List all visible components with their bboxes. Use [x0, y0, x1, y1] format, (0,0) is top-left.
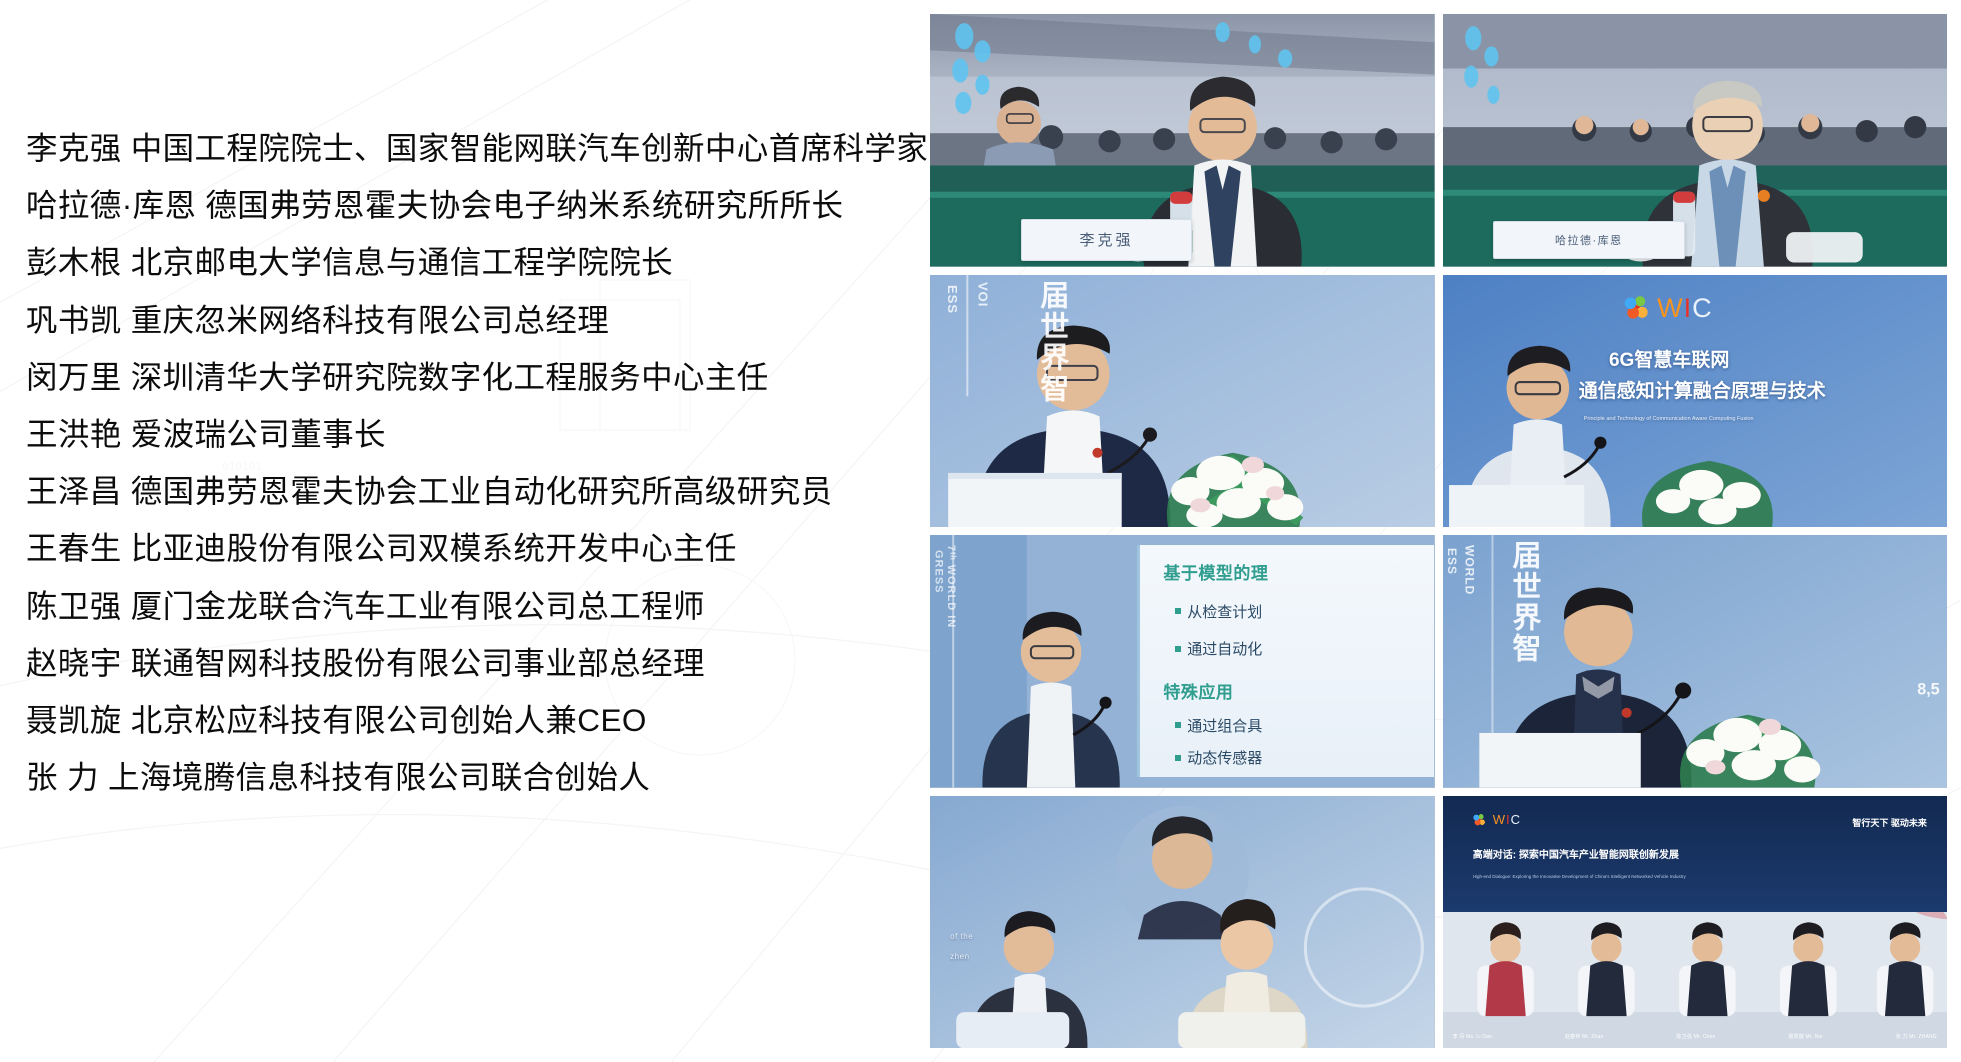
slide-bullet: 动态传感器 [1175, 747, 1262, 768]
photo-scene [930, 275, 1435, 528]
roster-title: 深圳清华大学研究院数字化工程服务中心主任 [131, 359, 769, 395]
photo-stage-panel: WIC 智行天下 驱动未来 高端对话: 探索中国汽车产业智能网联创新发展 Hig… [1443, 796, 1948, 1049]
forum-slogan: 智行天下 驱动未来 [1852, 816, 1927, 829]
roster-title: 北京松应科技有限公司创始人兼CEO [131, 702, 647, 738]
backdrop-vertical-latin-2: ESS [1445, 548, 1459, 575]
roster-line: 赵晓宇联通智网科技股份有限公司事业部总经理 [26, 635, 906, 692]
backdrop-vertical-cn: 届世界智 [1031, 280, 1073, 404]
screen-subtitle: Principle and Technology of Communicatio… [1584, 416, 1754, 422]
slide-bullet-text: 从检查计划 [1187, 601, 1262, 622]
forum-title: 高端对话: 探索中国汽车产业智能网联创新发展 [1473, 846, 1679, 861]
photo-panel-guests: of the zhen [930, 796, 1435, 1049]
slide-bullet-text: 动态传感器 [1187, 747, 1262, 768]
roster-title: 比亚迪股份有限公司双模系统开发中心主任 [131, 530, 737, 566]
roster-title: 北京邮电大学信息与通信工程学院院长 [131, 244, 673, 280]
photo-harald-kuhn-seated: 哈拉德·库恩 [1443, 14, 1948, 267]
bullet-square-icon [1175, 722, 1181, 728]
bullet-square-icon [1175, 608, 1181, 614]
wic-logo: WIC [1473, 813, 1521, 826]
roster-title: 中国工程院院士、国家智能网联汽车创新中心首席科学家 [131, 130, 929, 166]
wic-logo-mark [1624, 296, 1650, 320]
roster-name: 张 力 [26, 759, 99, 795]
roster-line: 王春生比亚迪股份有限公司双模系统开发中心主任 [26, 520, 906, 577]
roster-line: 王洪艳爱波瑞公司董事长 [26, 406, 906, 463]
slide-bullet: 通过自动化 [1175, 638, 1262, 659]
slide-bullet-text: 通过组合具 [1187, 715, 1262, 736]
roster-name: 李克强 [26, 130, 122, 166]
roster-name: 聂凯旋 [26, 702, 122, 738]
wic-logo: WIC [1624, 295, 1713, 322]
roster-title: 爱波瑞公司董事长 [131, 416, 386, 452]
wic-logo-text: WIC [1493, 813, 1521, 826]
roster-line: 闵万里深圳清华大学研究院数字化工程服务中心主任 [26, 349, 906, 406]
screen-title-line1: 6G智慧车联网 [1609, 350, 1729, 372]
roster-title: 德国弗劳恩霍夫协会工业自动化研究所高级研究员 [131, 473, 833, 509]
bullet-square-icon [1175, 646, 1181, 652]
roster-name: 王洪艳 [26, 416, 122, 452]
slide-bullet-text: 通过自动化 [1187, 638, 1262, 659]
roster-name: 闵万里 [26, 359, 122, 395]
forum-subtitle: High-end Dialogue: Exploring the Innovat… [1473, 874, 1686, 879]
svg-text:8,5: 8,5 [1917, 681, 1939, 699]
backdrop-text-2: zhen [950, 952, 969, 961]
backdrop-text: of the [950, 932, 973, 941]
roster-line: 彭木根北京邮电大学信息与通信工程学院院长 [26, 234, 906, 291]
wic-logo-mark [1473, 814, 1486, 826]
roster-title: 德国弗劳恩霍夫协会电子纳米系统研究所所长 [205, 187, 843, 223]
panelist-name: 李 丹 Ms. Li Dan [1453, 1033, 1492, 1040]
nameplate: 李克强 [1021, 219, 1193, 262]
slide-bullet: 从检查计划 [1175, 601, 1262, 622]
backdrop-vertical-latin-2: ESS [945, 285, 960, 314]
roster-title: 厦门金龙联合汽车工业有限公司总工程师 [131, 588, 705, 624]
roster-line: 聂凯旋北京松应科技有限公司创始人兼CEO [26, 692, 906, 749]
roster-title: 联通智网科技股份有限公司事业部总经理 [131, 645, 705, 681]
roster-line: 哈拉德·库恩德国弗劳恩霍夫协会电子纳米系统研究所所长 [26, 177, 906, 234]
roster-name: 彭木根 [26, 244, 122, 280]
roster-title: 上海境腾信息科技有限公司联合创始人 [108, 759, 650, 795]
backdrop-vertical-latin: 7ᵗʰ WORLD IN [945, 545, 957, 628]
backdrop-vertical-latin: VOI [975, 282, 990, 307]
roster-line: 张 力上海境腾信息科技有限公司联合创始人 [26, 749, 906, 806]
panelist-name: 陈卫强 Mr. Chen [1676, 1033, 1715, 1040]
photo-speaker-with-slide: 基于模型的理 从检查计划 通过自动化 特殊应用 通过组合具 动态传感器 [930, 535, 1435, 788]
conference-photo-grid: 李克强 [930, 14, 1947, 1048]
slide-heading-2: 特殊应用 [1163, 678, 1233, 703]
panelist-name: 张 力 Mr. ZHANG [1896, 1033, 1937, 1040]
photo-podium-speaker-a: 届世界智 VOI ESS [930, 275, 1435, 528]
roster-name: 巩书凯 [26, 302, 122, 338]
roster-title: 重庆忽米网络科技有限公司总经理 [131, 302, 610, 338]
bullet-square-icon [1175, 755, 1181, 761]
roster-line: 陈卫强厦门金龙联合汽车工业有限公司总工程师 [26, 578, 906, 635]
backdrop-vertical-latin: WORLD [1463, 545, 1477, 595]
panelist-name: 聂凯旋 Mr. Nie [1788, 1033, 1822, 1040]
photo-scene [930, 796, 1435, 1049]
backdrop-vertical-latin-2: GRESS [933, 550, 945, 594]
photo-podium-speaker-b: 8,5 届世界智 WORLD ESS [1443, 535, 1948, 788]
slide-bullet: 通过组合具 [1175, 715, 1262, 736]
slide-root: 010101010 010101 李克强中国工程院院士、国家智能网联汽车创新中心… [0, 0, 1961, 1062]
roster-line: 巩书凯重庆忽米网络科技有限公司总经理 [26, 292, 906, 349]
panelist-name: 赵春林 Mr. Zhao [1565, 1033, 1604, 1040]
photo-li-keqiang-seated: 李克强 [930, 14, 1435, 267]
presentation-slide: 基于模型的理 从检查计划 通过自动化 特殊应用 通过组合具 动态传感器 [1137, 545, 1435, 777]
speaker-roster: 李克强中国工程院院士、国家智能网联汽车创新中心首席科学家 哈拉德·库恩德国弗劳恩… [26, 120, 906, 806]
roster-name: 哈拉德·库恩 [26, 187, 196, 223]
roster-name: 王春生 [26, 530, 122, 566]
roster-line: 王泽昌德国弗劳恩霍夫协会工业自动化研究所高级研究员 [26, 463, 906, 520]
roster-name: 陈卫强 [26, 588, 122, 624]
roster-name: 王泽昌 [26, 473, 122, 509]
nameplate: 哈拉德·库恩 [1493, 221, 1685, 259]
roster-name: 赵晓宇 [26, 645, 122, 681]
panelist-name-row: 李 丹 Ms. Li Dan 赵春林 Mr. Zhao 陈卫强 Mr. Chen… [1453, 1033, 1937, 1040]
backdrop-vertical-cn: 届世界智 [1503, 540, 1545, 664]
slide-heading: 基于模型的理 [1163, 559, 1268, 584]
roster-line: 李克强中国工程院院士、国家智能网联汽车创新中心首席科学家 [26, 120, 906, 177]
screen-title-line2: 通信感知计算融合原理与技术 [1579, 381, 1826, 403]
photo-6g-talk: WIC 6G智慧车联网 通信感知计算融合原理与技术 Principle and … [1443, 275, 1948, 528]
wic-logo-text: WIC [1657, 295, 1713, 322]
